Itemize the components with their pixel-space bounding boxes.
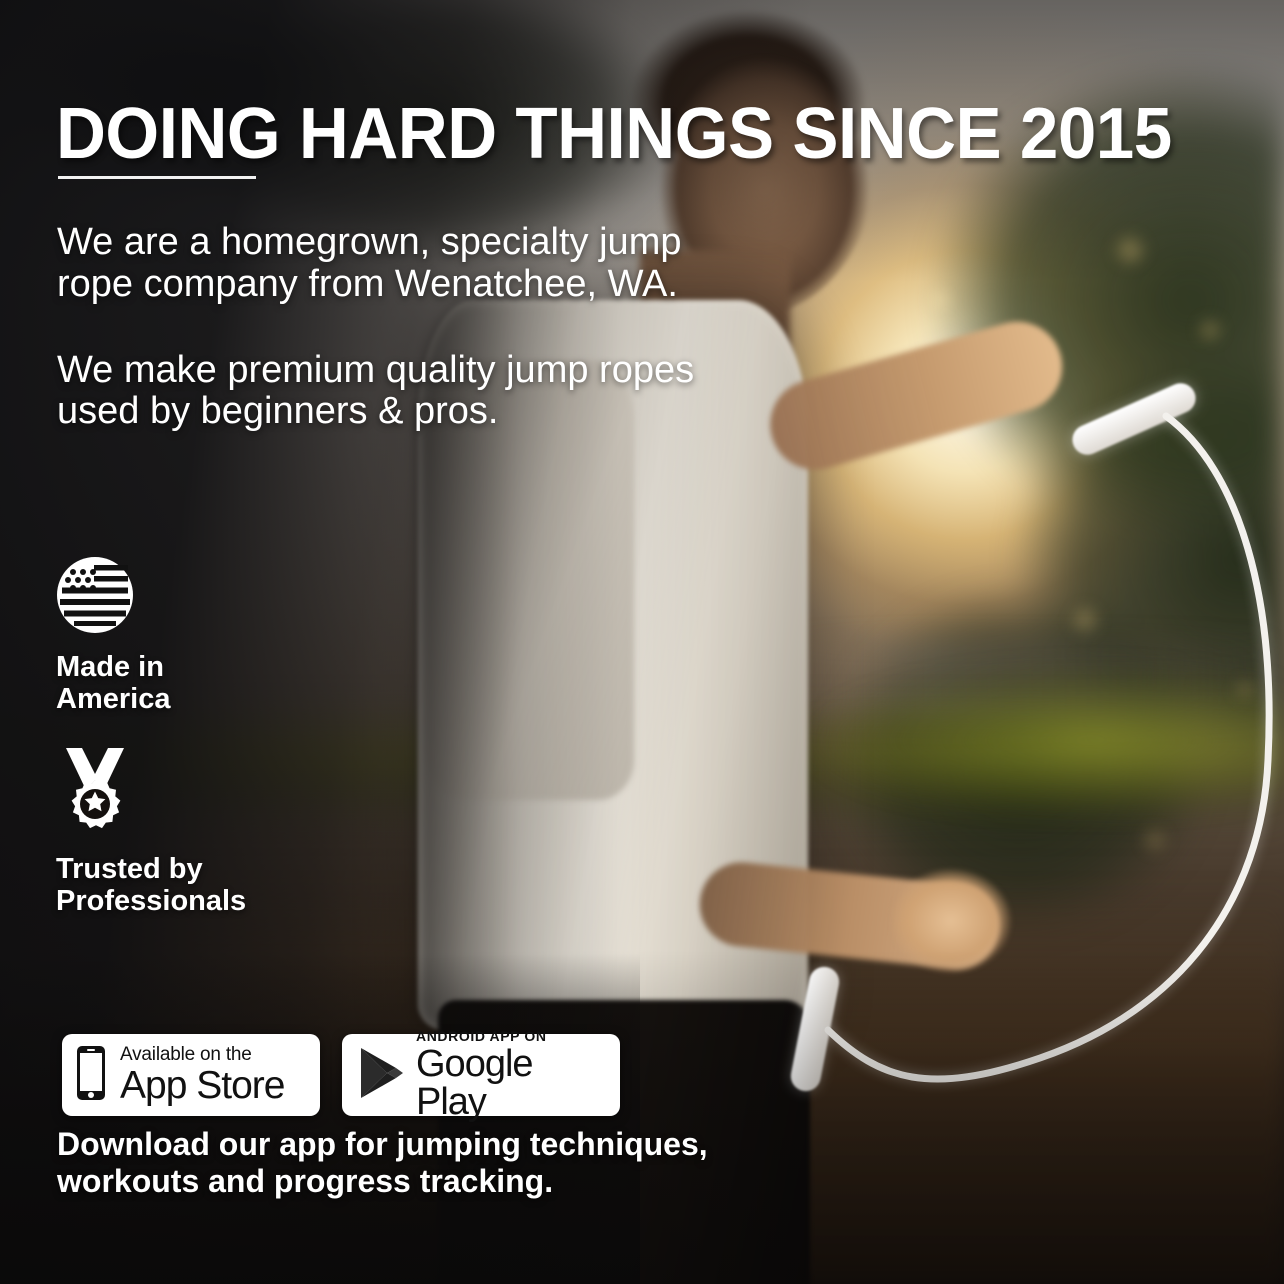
page-title: DOING HARD THINGS SINCE 2015	[56, 98, 1172, 170]
trust-badges: Made in America Trusted by Professionals	[56, 556, 246, 946]
badge-label-trusted-by-professionals: Trusted by Professionals	[56, 853, 246, 918]
app-download-caption: Download our app for jumping techniques,…	[57, 1126, 847, 1200]
intro-paragraph-1: We are a homegrown, specialty jump rope …	[57, 222, 717, 306]
badge-made-in-america: Made in America	[56, 556, 246, 716]
app-store-button[interactable]: Available on the App Store	[62, 1034, 320, 1116]
marketing-poster: DOING HARD THINGS SINCE 2015 We are a ho…	[0, 0, 1284, 1284]
app-store-bottom-line: App Store	[120, 1066, 284, 1105]
app-store-top-line: Available on the	[120, 1045, 284, 1064]
app-store-badges: Available on the App Store ANDROID APP O…	[62, 1034, 620, 1116]
intro-paragraph-2: We make premium quality jump ropes used …	[57, 350, 717, 434]
app-store-label: Available on the App Store	[120, 1045, 284, 1105]
google-play-top-line: ANDROID APP ON	[416, 1029, 606, 1043]
poster-content: DOING HARD THINGS SINCE 2015 We are a ho…	[0, 0, 1284, 1284]
google-play-label: ANDROID APP ON Google Play	[416, 1029, 606, 1121]
google-play-button[interactable]: ANDROID APP ON Google Play	[342, 1034, 620, 1116]
intro-copy: We are a homegrown, specialty jump rope …	[57, 222, 717, 433]
usa-flag-icon	[56, 556, 246, 639]
iphone-icon	[74, 1045, 108, 1106]
google-play-bottom-line: Google Play	[416, 1045, 606, 1121]
google-play-triangle-icon	[356, 1045, 404, 1106]
badge-label-made-in-america: Made in America	[56, 651, 246, 716]
title-divider	[58, 176, 256, 179]
medal-icon	[56, 744, 246, 841]
badge-trusted-by-professionals: Trusted by Professionals	[56, 744, 246, 918]
